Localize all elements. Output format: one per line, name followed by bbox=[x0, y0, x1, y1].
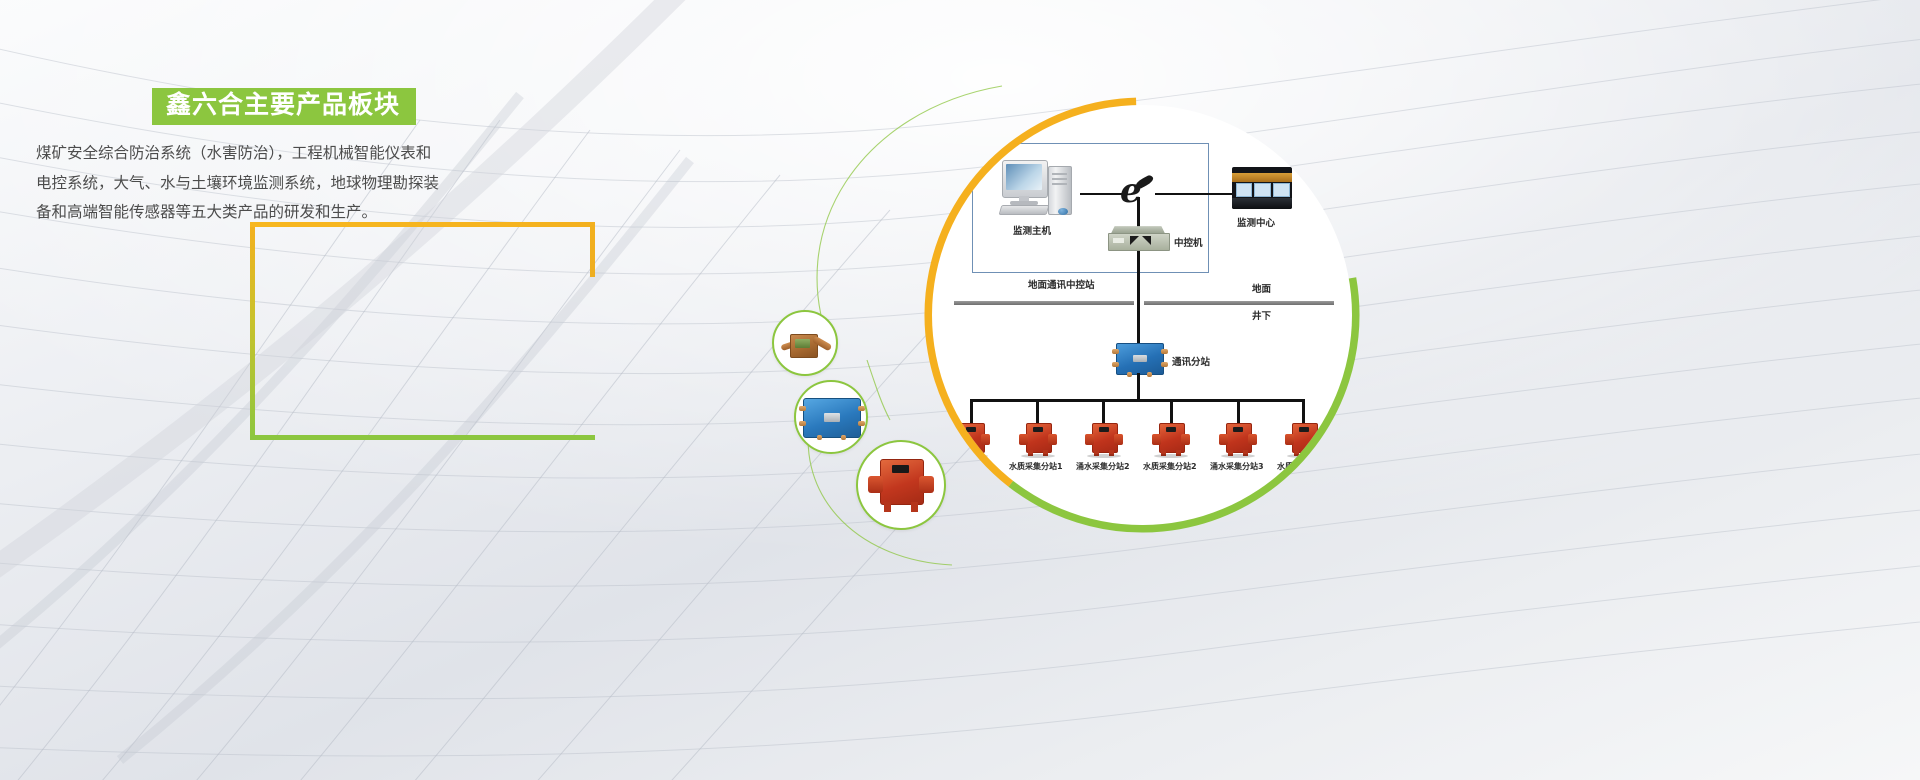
red-substation-icon bbox=[868, 459, 934, 515]
section-description: 煤矿安全综合防治系统（水害防治），工程机械智能仪表和 电控系统，大气、水与土壤环… bbox=[36, 146, 456, 235]
blue-junction-box-icon bbox=[803, 398, 861, 438]
description-line-1: 煤矿安全综合防治系统（水害防治），工程机械智能仪表和 bbox=[36, 146, 456, 162]
banner-stage: 鑫六合主要产品板块 煤矿安全综合防治系统（水害防治），工程机械智能仪表和 电控系… bbox=[0, 0, 1920, 780]
description-line-2: 电控系统，大气、水与土壤环境监测系统，地球物理勘探装 bbox=[36, 176, 456, 192]
frame-border-left bbox=[250, 222, 255, 440]
label-underground: 井下 bbox=[1252, 308, 1271, 322]
link-internet-to-center bbox=[1155, 193, 1234, 195]
label-substation-4: 水质采集分站2 bbox=[1143, 461, 1197, 472]
substation-icon-6 bbox=[1285, 423, 1323, 457]
trunk-vertical-lower bbox=[1137, 373, 1140, 401]
label-ground: 地面 bbox=[1252, 281, 1271, 295]
description-line-3: 备和高端智能传感器等五大类产品的研发和生产。 bbox=[36, 205, 456, 221]
substation-icon-3 bbox=[1085, 423, 1123, 457]
substation-icon-4 bbox=[1152, 423, 1190, 457]
bus-drop-6 bbox=[1302, 399, 1305, 425]
trunk-vertical-upper bbox=[1137, 197, 1140, 227]
ground-separator-right bbox=[1144, 301, 1334, 305]
ground-separator-left bbox=[954, 301, 1134, 305]
substation-icon-1 bbox=[952, 423, 990, 457]
substation-icon-5 bbox=[1219, 423, 1257, 457]
label-substation-6: 水质采集分站3 bbox=[1277, 461, 1331, 472]
label-surface-station: 地面通讯中控站 bbox=[1028, 277, 1095, 291]
substation-icon-2 bbox=[1019, 423, 1057, 457]
label-monitor-center: 监测中心 bbox=[1237, 215, 1275, 229]
label-substation-3: 涌水采集分站2 bbox=[1076, 461, 1130, 472]
blue-junction-bubble[interactable] bbox=[794, 380, 868, 454]
central-control-icon bbox=[1108, 225, 1168, 251]
label-substation-5: 涌水采集分站3 bbox=[1210, 461, 1264, 472]
bus-drop-2 bbox=[1036, 399, 1039, 425]
label-central-control: 中控机 bbox=[1174, 235, 1203, 249]
trunk-vertical-crossing bbox=[1137, 251, 1140, 347]
red-substation-bubble[interactable] bbox=[856, 440, 946, 530]
diagram-hero: 监测主机 e 监测中心 bbox=[772, 60, 1372, 580]
bus-drop-5 bbox=[1237, 399, 1240, 425]
left-content-block bbox=[250, 222, 595, 440]
frame-border-bottom bbox=[250, 435, 595, 440]
substation-bus bbox=[970, 399, 1304, 402]
bus-drop-4 bbox=[1170, 399, 1173, 425]
link-host-to-internet bbox=[1080, 193, 1122, 195]
label-monitor-host: 监测主机 bbox=[1013, 223, 1051, 237]
comm-substation-icon bbox=[1116, 343, 1164, 375]
label-substation-2: 水质采集分站1 bbox=[1009, 461, 1063, 472]
label-substation-1: 涌水采集分站1 bbox=[941, 461, 995, 472]
label-comm-substation: 通讯分站 bbox=[1172, 354, 1210, 368]
bus-drop-3 bbox=[1102, 399, 1105, 425]
section-title-text: 鑫六合主要产品板块 bbox=[166, 91, 400, 119]
section-title-banner: 鑫六合主要产品板块 bbox=[152, 88, 416, 125]
monitor-center-icon bbox=[1232, 167, 1292, 209]
frame-border-right bbox=[590, 222, 595, 277]
system-diagram: 监测主机 e 监测中心 bbox=[932, 105, 1352, 525]
brown-instrument-bubble[interactable] bbox=[772, 310, 838, 376]
bus-drop-1 bbox=[970, 399, 973, 425]
